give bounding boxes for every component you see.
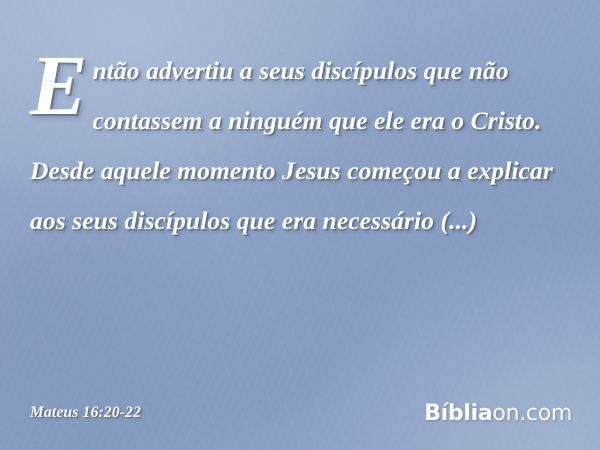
drop-cap-letter: E — [30, 52, 87, 119]
bibliaon-logo[interactable]: Bíbliaon.com — [424, 401, 572, 426]
verse-card: Então advertiu a seus discípulos que não… — [0, 0, 600, 450]
verse-reference: Mateus 16:20-22 — [30, 404, 141, 422]
verse-body-text: ntão advertiu a seus discípulos que não … — [30, 56, 553, 235]
verse-quote-text: Então advertiu a seus discípulos que não… — [30, 46, 575, 246]
logo-tld-text: on.com — [492, 401, 572, 426]
logo-brand-text: Bíblia — [424, 401, 492, 426]
card-footer: Mateus 16:20-22 Bíbliaon.com — [30, 398, 572, 428]
